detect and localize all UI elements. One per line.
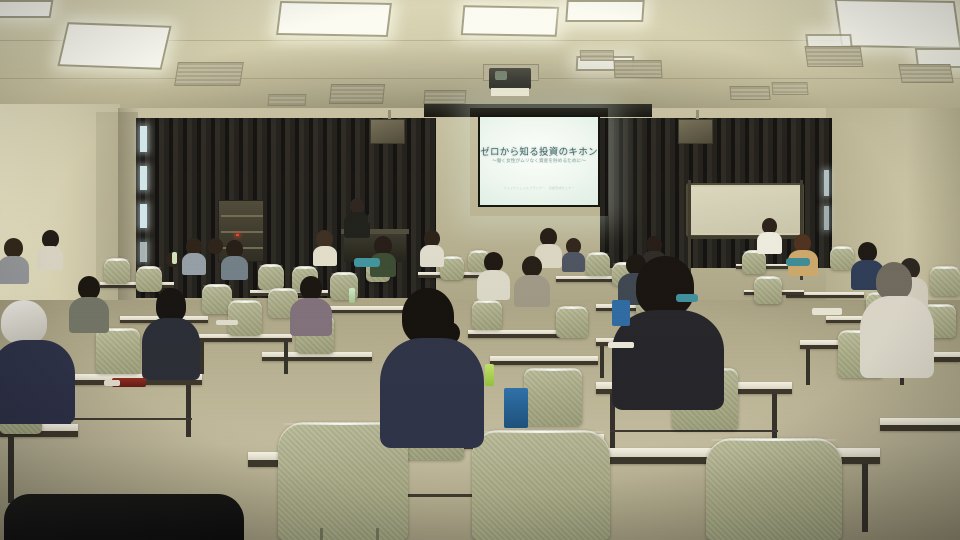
papers	[216, 320, 238, 325]
slide-subtitle: 〜働く女性がムリなく資産を貯めるために〜	[480, 158, 598, 164]
slide-title: ゼロから知る投資のキホン	[480, 144, 598, 158]
projector-mount-plate	[491, 88, 529, 96]
table-row	[490, 356, 598, 365]
drink-bottle	[485, 364, 494, 386]
wall-speaker-right	[678, 119, 713, 144]
chair[interactable]	[586, 252, 610, 276]
chair[interactable]	[830, 246, 854, 270]
projection-screen: ゼロから知る投資のキホン 〜働く女性がムリなく資産を貯めるために〜 ファイナンシ…	[478, 115, 600, 207]
chair[interactable]	[96, 328, 140, 374]
papers	[812, 308, 842, 315]
chair[interactable]	[104, 258, 130, 284]
av-power-led-icon	[236, 234, 239, 236]
chair[interactable]	[524, 368, 582, 426]
chair[interactable]	[706, 438, 842, 540]
drink-bottle	[172, 252, 177, 264]
slide-footer: ファイナンシャルプランナー 資産形成セミナー	[480, 185, 598, 190]
chair-seat-teal	[354, 258, 380, 267]
microphone	[368, 214, 371, 223]
window-light-slit	[140, 242, 147, 262]
projector-lens-icon	[495, 71, 507, 80]
chair[interactable]	[556, 306, 588, 338]
whiteboard-tray	[688, 236, 802, 239]
seminar-room-photo: ゼロから知る投資のキホン 〜働く女性がムリなく資産を貯めるために〜 ファイナンシ…	[0, 0, 960, 540]
notebook	[104, 380, 120, 386]
chair[interactable]	[930, 266, 960, 296]
drink-bottle	[349, 288, 355, 303]
window-light-slit	[824, 206, 829, 230]
window-light-slit	[140, 126, 147, 152]
chair[interactable]	[228, 300, 262, 336]
chair-seat-teal	[786, 258, 810, 266]
chair[interactable]	[472, 300, 502, 330]
ceiling	[0, 0, 960, 118]
tote-bag	[612, 300, 630, 326]
whiteboard	[686, 183, 804, 237]
table-row	[330, 306, 410, 313]
tote-bag	[504, 388, 528, 428]
chair[interactable]	[472, 430, 610, 540]
window-light-slit	[824, 170, 829, 196]
window-light-slit	[140, 204, 147, 228]
chair[interactable]	[136, 266, 162, 292]
wall-speaker-left	[370, 119, 405, 144]
table-row	[468, 330, 560, 338]
chair-seat-teal	[676, 294, 698, 302]
window-light-slit	[140, 166, 147, 190]
foreground-jacket	[4, 494, 244, 540]
table-row	[880, 418, 960, 431]
chair[interactable]	[258, 264, 284, 290]
papers	[608, 342, 634, 348]
chair[interactable]	[754, 276, 782, 304]
